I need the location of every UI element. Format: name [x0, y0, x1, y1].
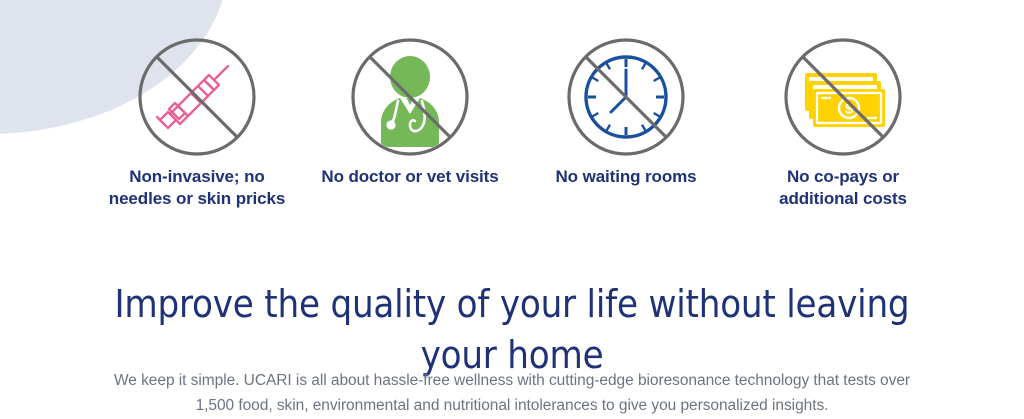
- body-paragraph: We keep it simple. UCARI is all about ha…: [97, 368, 927, 419]
- feature-label: No doctor or vet visits: [321, 166, 498, 188]
- no-syringe-icon: [135, 35, 259, 159]
- feature-item-no-doctor: No doctor or vet visits: [310, 35, 510, 188]
- feature-label: No waiting rooms: [555, 166, 696, 188]
- feature-label: No co-pays or additional costs: [779, 166, 907, 211]
- feature-item-no-waiting: No waiting rooms: [526, 35, 726, 188]
- feature-label: Non-invasive; no needles or skin pricks: [109, 166, 285, 211]
- page-headline: Improve the quality of your life without…: [92, 279, 932, 382]
- feature-list: Non-invasive; no needles or skin pricks: [0, 0, 1024, 215]
- feature-item-non-invasive: Non-invasive; no needles or skin pricks: [97, 35, 297, 211]
- feature-item-no-copays: $ No co-pays or additional costs: [743, 35, 943, 211]
- no-money-icon: $: [781, 35, 905, 159]
- no-clock-icon: [564, 35, 688, 159]
- no-doctor-icon: [348, 35, 472, 159]
